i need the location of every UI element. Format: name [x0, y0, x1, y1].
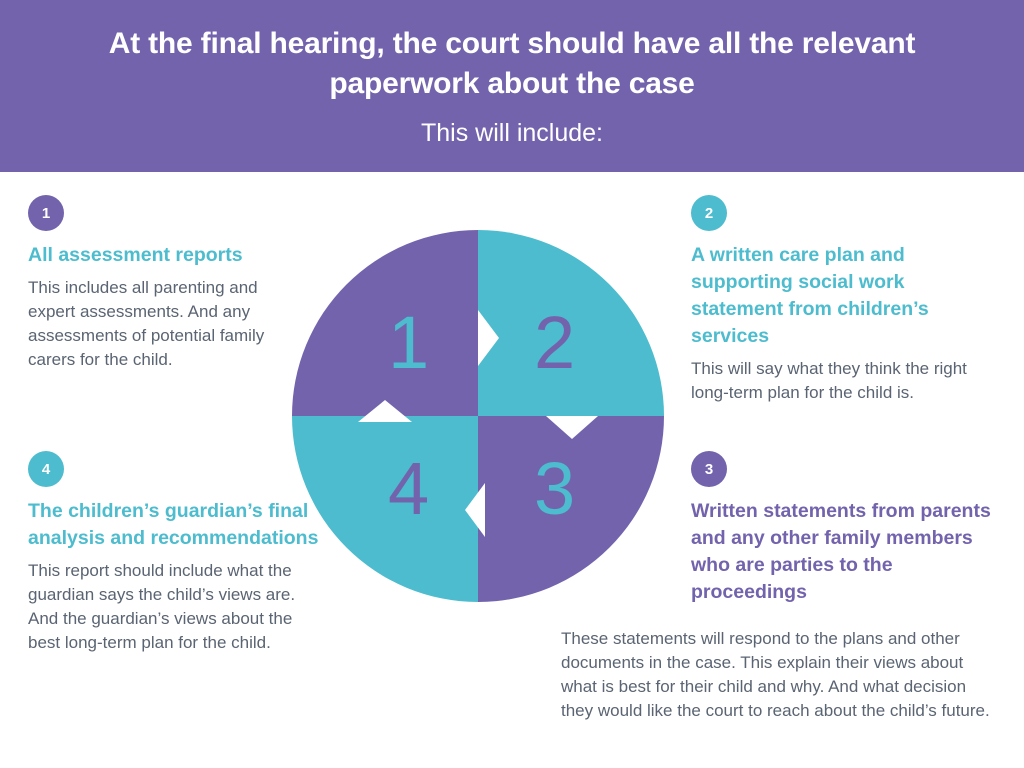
page-title: At the final hearing, the court should h…: [42, 24, 982, 104]
arrow-right-icon: [478, 310, 499, 366]
header-banner: At the final hearing, the court should h…: [0, 0, 1024, 172]
item-2-badge-number: 2: [705, 206, 713, 221]
item-1-heading: All assessment reports: [28, 242, 296, 269]
diagram-quadrant-3-number: 3: [534, 452, 575, 526]
item-4-body: This report should include what the guar…: [28, 559, 328, 656]
diagram-quadrant-2-number: 2: [534, 306, 575, 380]
page-subtitle: This will include:: [421, 118, 603, 148]
item-2: 2 A written care plan and supporting soc…: [691, 195, 996, 405]
diagram-quadrant-1-number: 1: [388, 306, 429, 380]
item-1-body: This includes all parenting and expert a…: [28, 276, 296, 373]
item-2-badge: 2: [691, 195, 727, 231]
item-4-badge: 4: [28, 451, 64, 487]
arrow-up-icon: [358, 400, 412, 422]
item-3-badge: 3: [691, 451, 727, 487]
arrow-left-icon: [465, 483, 485, 537]
diagram-quadrant-4-number: 4: [388, 452, 429, 526]
item-4-badge-number: 4: [42, 462, 50, 477]
item-1: 1 All assessment reports This includes a…: [28, 195, 296, 372]
diagram-quadrant-1: [292, 230, 478, 416]
item-1-badge: 1: [28, 195, 64, 231]
diagram-circle: 1 2 3 4: [292, 230, 664, 602]
item-3-body: These statements will respond to the pla…: [561, 627, 1001, 724]
item-2-heading: A written care plan and supporting socia…: [691, 242, 996, 350]
item-4: 4 The children’s guardian’s final analys…: [28, 451, 328, 655]
infographic-page: At the final hearing, the court should h…: [0, 0, 1024, 768]
item-1-badge-number: 1: [42, 206, 50, 221]
item-3-heading: Written statements from parents and any …: [691, 498, 996, 606]
item-3-badge-number: 3: [705, 462, 713, 477]
arrow-down-icon: [546, 416, 598, 439]
item-3: 3 Written statements from parents and an…: [691, 451, 996, 606]
item-2-body: This will say what they think the right …: [691, 357, 996, 405]
item-4-heading: The children’s guardian’s final analysis…: [28, 498, 328, 552]
cycle-diagram: 1 2 3 4: [292, 230, 664, 602]
